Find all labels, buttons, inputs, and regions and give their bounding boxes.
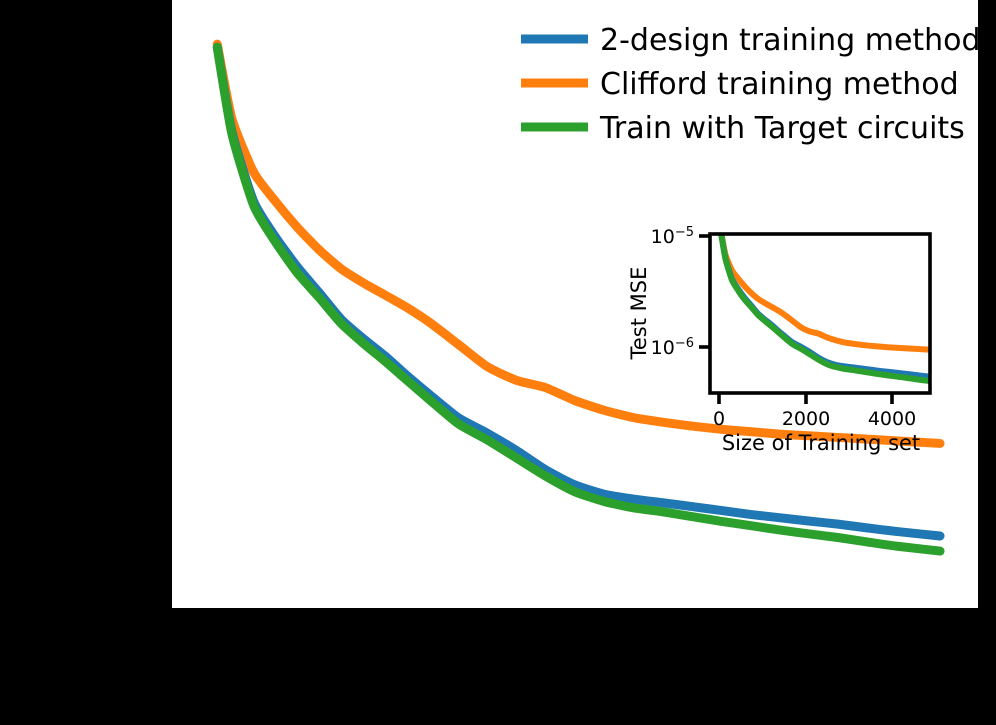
legend-entry-2: Train with Target circuits [521,111,965,146]
figure-canvas: 2-design training method Clifford traini… [0,0,996,725]
inset-xaxis-label: Size of Training set [722,431,920,455]
legend-label-0: 2-design training method [600,23,981,58]
inset-xtick-label-0: 0 [713,408,725,430]
inset-yaxis-label: Test MSE [627,267,651,361]
chart-svg: 2-design training method Clifford traini… [0,0,996,725]
legend-label-1: Clifford training method [600,67,959,102]
inset-xtick-label-2: 4000 [868,408,916,430]
inset-ytick-label-top: 10−5 [651,225,694,248]
legend-entry-1: Clifford training method [521,67,959,102]
inset-plot-background [710,234,930,393]
inset-xtick-label-1: 2000 [782,408,830,430]
inset-ytick-label-bottom: 10−6 [651,336,694,359]
legend-label-2: Train with Target circuits [599,111,965,146]
legend: 2-design training method Clifford traini… [521,23,981,146]
legend-entry-0: 2-design training method [521,23,981,58]
